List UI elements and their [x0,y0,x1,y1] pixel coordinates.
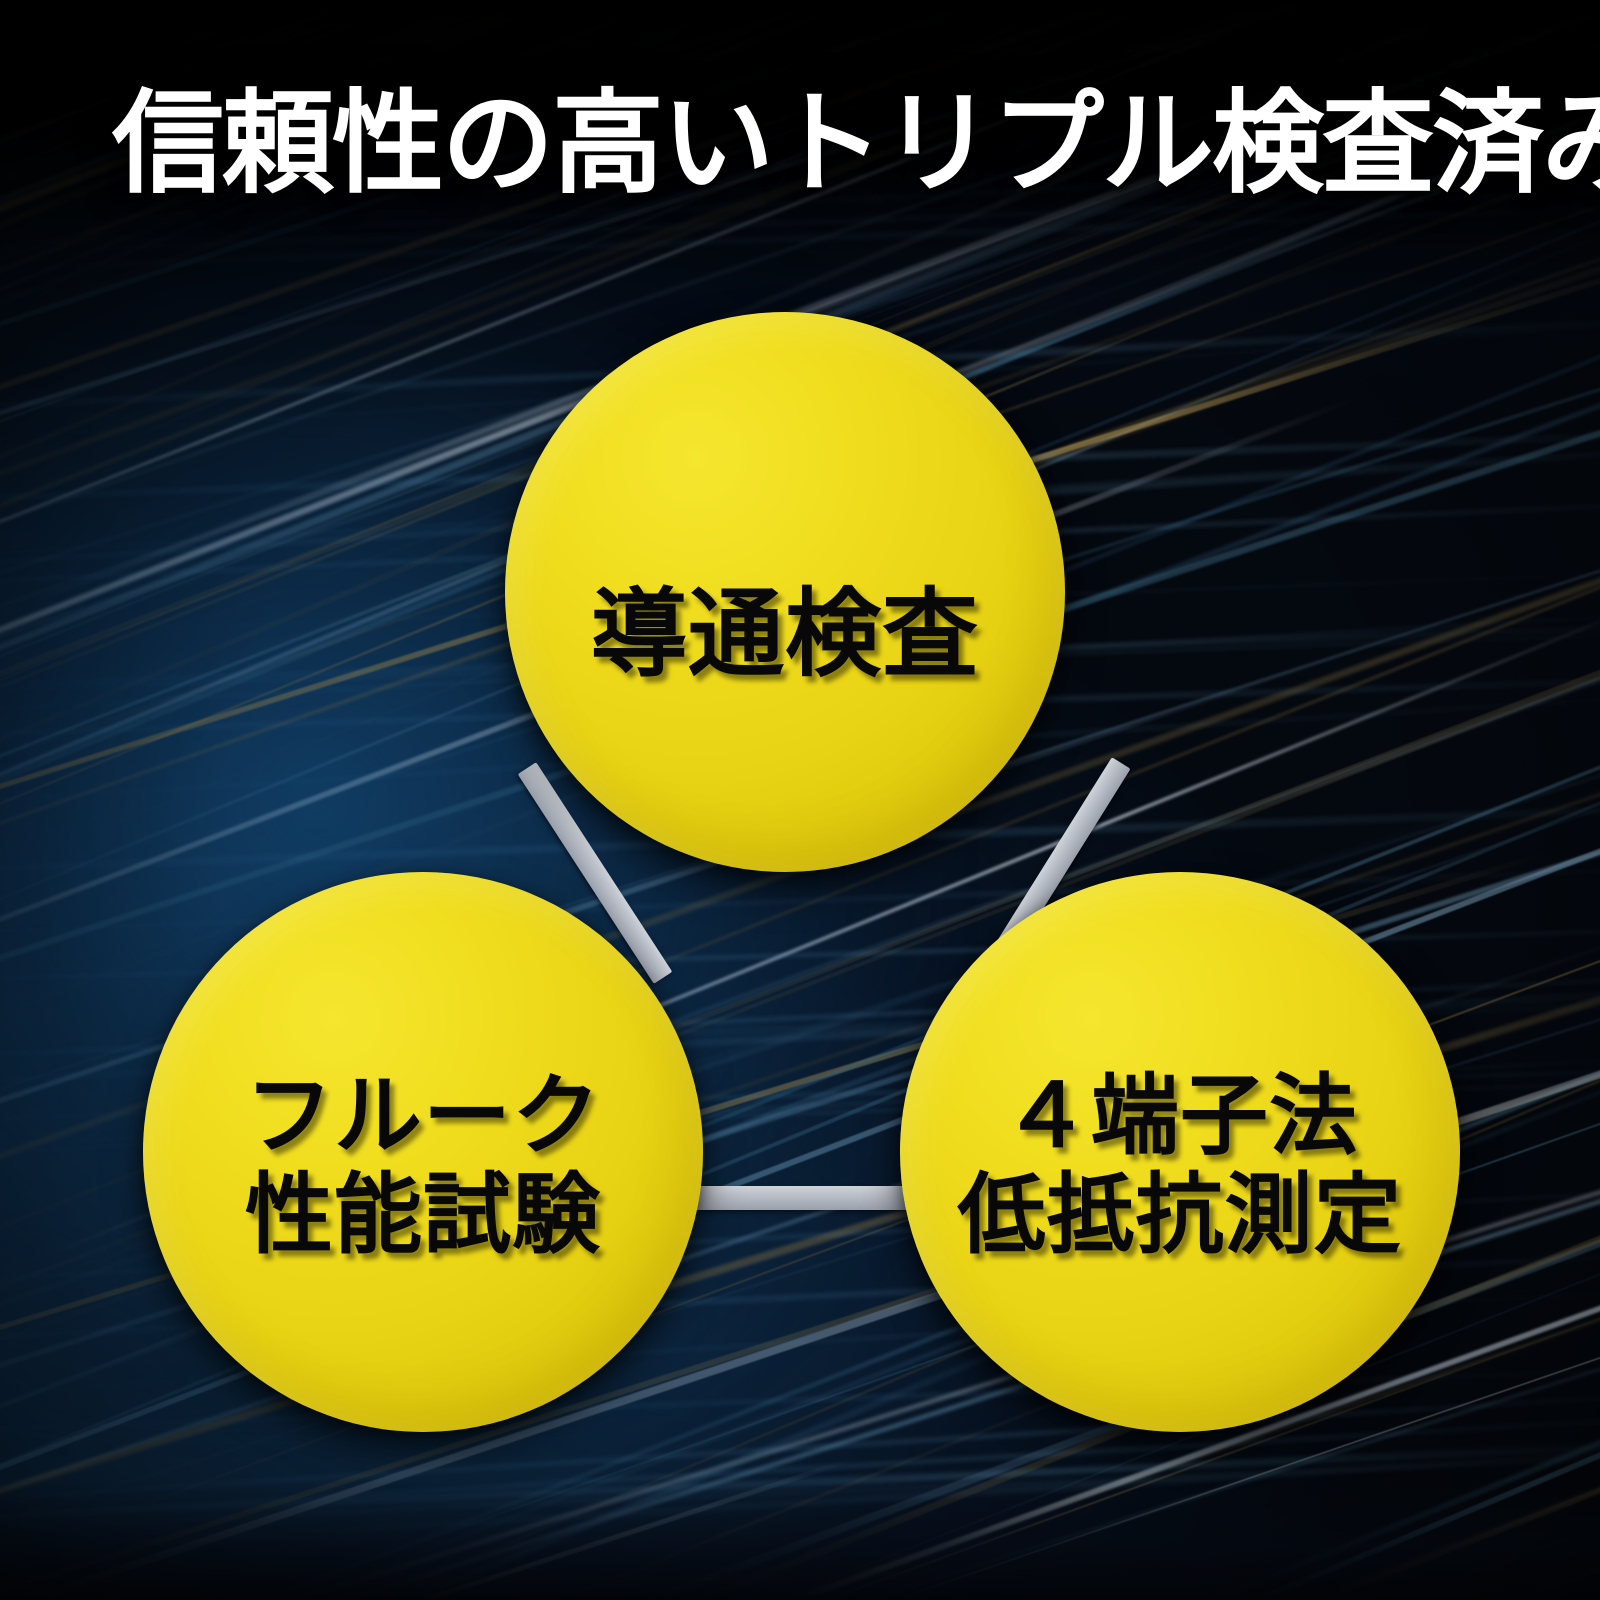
background-bottom-shade [0,1480,1600,1600]
node-circle-bottom-right: ４端子法 低抵抗測定 [900,872,1460,1432]
infographic-canvas: 信頼性の高いトリプル検査済み 導通検査 フルーク 性能試験 ４端子法 低抵抗測定 [0,0,1600,1600]
node-circle-bottom-left: フルーク 性能試験 [143,872,703,1432]
node-circle-top: 導通検査 [505,312,1065,872]
page-title: 信頼性の高いトリプル検査済み [112,78,1542,210]
node-label-bottom-right: ４端子法 低抵抗測定 [957,1069,1402,1266]
node-label-top: 導通検査 [591,581,979,689]
connector-left-to-right [665,1186,935,1210]
node-label-bottom-left: フルーク 性能試験 [245,1069,601,1266]
